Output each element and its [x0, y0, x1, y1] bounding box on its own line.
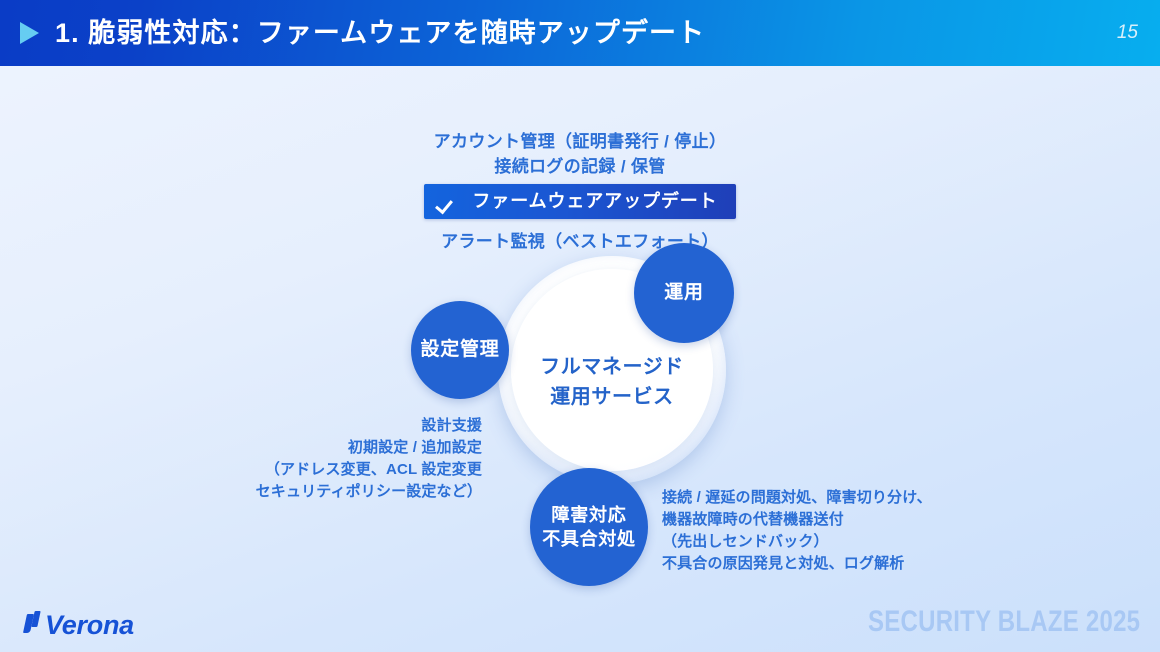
fault-handling-details: 接続 / 遅延の問題対処、障害切り分け、 機器故障時の代替機器送付 （先出しセン… [662, 487, 992, 575]
verona-logo-text: Verona [45, 611, 134, 639]
list-item: アカウント管理（証明書発行 / 停止） [0, 129, 1160, 154]
bubble-fault-handling-line1: 障害対応 [542, 503, 636, 527]
service-menu-list: アカウント管理（証明書発行 / 停止） 接続ログの記録 / 保管 ファームウェア… [0, 129, 1160, 254]
detail-line: 接続 / 遅延の問題対処、障害切り分け、 [662, 487, 992, 509]
bubble-fault-handling: 障害対応 不具合対処 [530, 468, 648, 586]
core-halo-ring [498, 256, 726, 484]
list-item: アラート監視（ベストエフォート） [0, 229, 1160, 254]
bubble-fault-handling-label: 障害対応 不具合対処 [542, 503, 636, 551]
core-circle-label: フルマネージド 運用サービス [511, 352, 713, 412]
detail-line: 機器故障時の代替機器送付 [662, 509, 992, 531]
bubble-fault-handling-line2: 不具合対処 [542, 527, 636, 551]
detail-line: 初期設定 / 追加設定 [192, 437, 482, 459]
page-title: 1. 脆弱性対応：ファームウェアを随時アップデート [55, 14, 705, 52]
event-watermark: SECURITY BLAZE 2025 [868, 606, 1140, 638]
bubble-operation: 運用 [634, 243, 734, 343]
page-number: 15 [1117, 20, 1138, 46]
core-circle [511, 269, 713, 471]
verona-logo: Verona [24, 610, 134, 640]
bubble-config-management-label: 設定管理 [420, 337, 499, 363]
bubble-operation-label: 運用 [664, 280, 704, 306]
list-item: 接続ログの記録 / 保管 [0, 154, 1160, 179]
highlighted-list-item-label: ファームウェアアップデート [472, 190, 717, 212]
slide-header: 1. 脆弱性対応：ファームウェアを随時アップデート 15 [0, 0, 1160, 66]
config-management-details: 設計支援 初期設定 / 追加設定 （アドレス変更、ACL 設定変更 セキュリティ… [192, 415, 482, 503]
verona-v-mark-icon [24, 612, 44, 638]
detail-line: （先出しセンドバック） [662, 531, 992, 553]
check-icon [438, 191, 460, 211]
detail-line: （アドレス変更、ACL 設定変更 [192, 459, 482, 481]
slide-canvas: 1. 脆弱性対応：ファームウェアを随時アップデート 15 アカウント管理（証明書… [0, 0, 1160, 652]
highlighted-list-item: ファームウェアアップデート [424, 184, 735, 219]
detail-line: 不具合の原因発見と対処、ログ解析 [662, 553, 992, 575]
core-circle-label-line1: フルマネージド [511, 352, 713, 382]
bubble-config-management: 設定管理 [411, 301, 509, 399]
core-circle-label-line2: 運用サービス [511, 382, 713, 412]
detail-line: 設計支援 [192, 415, 482, 437]
play-triangle-icon [20, 22, 39, 44]
detail-line: セキュリティポリシー設定など） [192, 481, 482, 503]
